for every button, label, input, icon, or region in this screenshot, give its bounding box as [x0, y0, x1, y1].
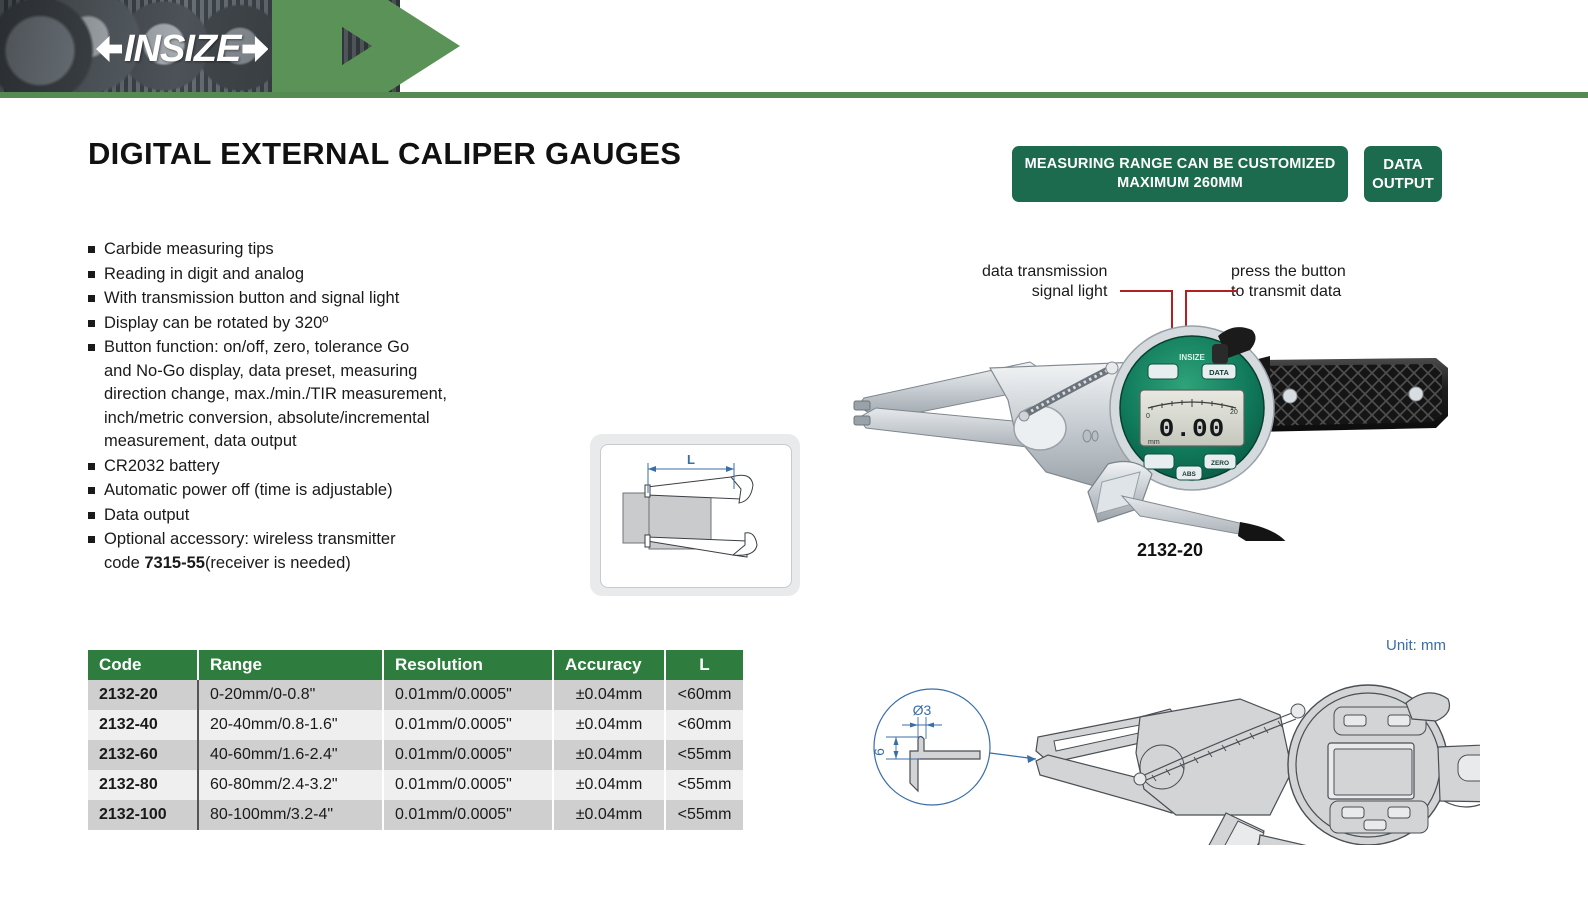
optional-suffix: (receiver is needed)	[205, 554, 351, 572]
cell-range: 80-100mm/3.2-4"	[198, 800, 383, 830]
bullet-square-icon	[88, 487, 95, 494]
bullet-square-icon	[88, 512, 95, 519]
optional-line1: Optional accessory: wireless transmitter	[104, 530, 396, 548]
table-row: 2132-60 40-60mm/1.6-2.4" 0.01mm/0.0005" …	[88, 740, 743, 770]
bullet-square-icon	[88, 536, 95, 543]
insize-logo: INSIZE	[96, 30, 268, 68]
table-row: 2132-20 0-20mm/0-0.8" 0.01mm/0.0005" ±0.…	[88, 680, 743, 710]
cell-accuracy: ±0.04mm	[553, 740, 665, 770]
dimension-label-L: L	[687, 452, 695, 467]
cell-code: 2132-100	[88, 800, 198, 830]
dimension-label-height: 6	[871, 748, 887, 756]
unit-note: Unit: mm	[1386, 637, 1446, 654]
feature-list: Carbide measuring tips Reading in digit …	[88, 238, 588, 576]
table-row: 2132-80 60-80mm/2.4-3.2" 0.01mm/0.0005" …	[88, 770, 743, 800]
column-header-resolution: Resolution	[383, 650, 553, 680]
arrow-right-icon	[242, 36, 268, 62]
measuring-range-badge-text: MEASURING RANGE CAN BE CUSTOMIZED MAXIMU…	[1025, 155, 1336, 193]
cell-resolution: 0.01mm/0.0005"	[383, 770, 553, 800]
feature-text: Display can be rotated by 320º	[104, 312, 328, 336]
column-header-code: Code	[88, 650, 198, 680]
table-row: 2132-100 80-100mm/3.2-4" 0.01mm/0.0005" …	[88, 800, 743, 830]
product-model-label: 2132-20	[1080, 540, 1260, 561]
cell-l: <55mm	[665, 740, 743, 770]
feature-text: Data output	[104, 504, 189, 528]
cell-accuracy: ±0.04mm	[553, 770, 665, 800]
cell-code: 2132-60	[88, 740, 198, 770]
list-item: Reading in digit and analog	[88, 263, 588, 287]
cell-l: <55mm	[665, 770, 743, 800]
table-row: 2132-40 20-40mm/0.8-1.6" 0.01mm/0.0005" …	[88, 710, 743, 740]
cell-accuracy: ±0.04mm	[553, 680, 665, 710]
lcd-scale-right: 20	[1230, 409, 1238, 416]
logo-wordmark: INSIZE	[124, 30, 240, 68]
feature-text: Button function: on/off, zero, tolerance…	[104, 336, 447, 454]
cell-code: 2132-80	[88, 770, 198, 800]
column-header-l: L	[665, 650, 743, 680]
cell-range: 20-40mm/0.8-1.6"	[198, 710, 383, 740]
bullet-square-icon	[88, 246, 95, 253]
list-item: Display can be rotated by 320º	[88, 312, 588, 336]
lcd-reading: 0.00	[1159, 414, 1225, 444]
bullet-square-icon	[88, 320, 95, 327]
cell-resolution: 0.01mm/0.0005"	[383, 680, 553, 710]
table-header-row: Code Range Resolution Accuracy L	[88, 650, 743, 680]
bullet-square-icon	[88, 295, 95, 302]
feature-text: Optional accessory: wireless transmitter…	[104, 528, 396, 575]
button-zero-label: ZERO	[1211, 460, 1229, 467]
technical-line-drawing: Ø3 6	[840, 655, 1480, 845]
column-header-range: Range	[198, 650, 383, 680]
cell-code: 2132-20	[88, 680, 198, 710]
cell-code: 2132-40	[88, 710, 198, 740]
cell-l: <60mm	[665, 680, 743, 710]
list-item: Carbide measuring tips	[88, 238, 588, 262]
cell-accuracy: ±0.04mm	[553, 710, 665, 740]
list-item: Data output	[88, 504, 588, 528]
cell-resolution: 0.01mm/0.0005"	[383, 740, 553, 770]
list-item: Button function: on/off, zero, tolerance…	[88, 336, 588, 454]
column-header-accuracy: Accuracy	[553, 650, 665, 680]
dimension-label-diameter: Ø3	[913, 702, 932, 718]
list-item: Automatic power off (time is adjustable)	[88, 479, 588, 503]
header-green-rule	[0, 92, 1588, 98]
feature-text: With transmission button and signal ligh…	[104, 287, 399, 311]
button-data-label: DATA	[1209, 368, 1229, 377]
cell-range: 60-80mm/2.4-3.2"	[198, 770, 383, 800]
list-item: CR2032 battery	[88, 455, 588, 479]
feature-text: Reading in digit and analog	[104, 263, 304, 287]
data-output-badge-text: DATA OUTPUT	[1372, 155, 1434, 193]
specification-table: Code Range Resolution Accuracy L 2132-20…	[88, 650, 743, 830]
header-banner: INSIZE	[0, 0, 1588, 92]
arrow-left-icon	[96, 36, 122, 62]
cell-l: <60mm	[665, 710, 743, 740]
bullet-square-icon	[88, 463, 95, 470]
list-item-optional-accessory: Optional accessory: wireless transmitter…	[88, 528, 588, 575]
dimension-diagram-box: L	[590, 434, 800, 596]
optional-prefix: code	[104, 554, 144, 572]
feature-text: Automatic power off (time is adjustable)	[104, 479, 393, 503]
cell-range: 0-20mm/0-0.8"	[198, 680, 383, 710]
bullet-square-icon	[88, 344, 95, 351]
cell-range: 40-60mm/1.6-2.4"	[198, 740, 383, 770]
measuring-range-badge: MEASURING RANGE CAN BE CUSTOMIZED MAXIMU…	[1012, 146, 1348, 202]
bullet-square-icon	[88, 271, 95, 278]
bezel-brand-text: INSIZE	[1179, 353, 1205, 362]
lcd-unit: mm	[1148, 439, 1160, 446]
cell-resolution: 0.01mm/0.0005"	[383, 800, 553, 830]
transmitter-code: 7315-55	[144, 554, 205, 572]
data-output-badge: DATA OUTPUT	[1364, 146, 1442, 202]
cell-accuracy: ±0.04mm	[553, 800, 665, 830]
feature-text: Carbide measuring tips	[104, 238, 274, 262]
cell-l: <55mm	[665, 800, 743, 830]
button-abs-label: ABS	[1182, 471, 1196, 478]
product-photo-2132-20: INSIZE DATA 0 20 0.00 mm ABS ZERO	[840, 296, 1460, 541]
list-item: With transmission button and signal ligh…	[88, 287, 588, 311]
cell-resolution: 0.01mm/0.0005"	[383, 710, 553, 740]
dimension-diagram-inner: L	[600, 444, 792, 588]
dimension-diagram-svg: L	[601, 445, 791, 587]
page-title: DIGITAL EXTERNAL CALIPER GAUGES	[88, 136, 681, 172]
feature-text: CR2032 battery	[104, 455, 220, 479]
lcd-scale-left: 0	[1146, 413, 1150, 420]
